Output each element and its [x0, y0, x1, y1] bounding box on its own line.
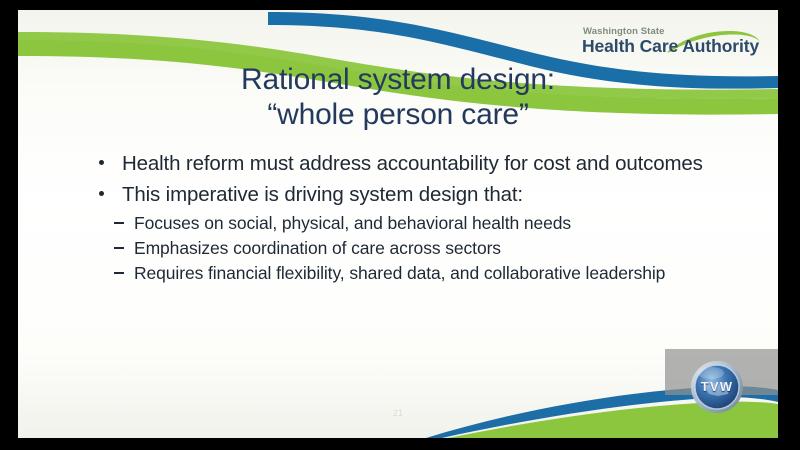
- bullet-dot-icon: [99, 191, 104, 196]
- video-frame: Washington State Health Care Authority R…: [0, 0, 800, 450]
- bullet-item: This imperative is driving system design…: [92, 181, 722, 208]
- bullet-item: Health reform must address accountabilit…: [92, 150, 722, 177]
- bullet-text: Health reform must address accountabilit…: [122, 152, 703, 175]
- bullet-dash-icon: [114, 222, 124, 224]
- slide-title-line1: Rational system design:: [18, 62, 778, 97]
- bullet-dash-icon: [114, 247, 124, 249]
- bullet-dot-icon: [99, 160, 104, 165]
- page-number: 21: [18, 408, 778, 418]
- logo-line-health-care-authority: Health Care Authority: [582, 36, 759, 56]
- sub-bullet-list: Focuses on social, physical, and behavio…: [92, 212, 722, 285]
- bullet-dash-icon: [114, 272, 124, 274]
- sub-bullet-text: Focuses on social, physical, and behavio…: [134, 213, 571, 233]
- tvw-watermark-logo: TVW: [685, 357, 749, 417]
- presentation-slide: Washington State Health Care Authority R…: [18, 10, 778, 438]
- slide-title: Rational system design: “whole person ca…: [18, 62, 778, 132]
- sub-bullet-text: Requires financial flexibility, shared d…: [134, 263, 665, 283]
- sub-bullet-item: Focuses on social, physical, and behavio…: [92, 212, 722, 235]
- hca-logo: Washington State Health Care Authority: [577, 27, 762, 63]
- tvw-label: TVW: [685, 379, 749, 394]
- sub-bullet-text: Emphasizes coordination of care across s…: [134, 238, 501, 258]
- slide-title-line2: “whole person care”: [18, 97, 778, 132]
- sub-bullet-item: Emphasizes coordination of care across s…: [92, 237, 722, 260]
- sub-bullet-item: Requires financial flexibility, shared d…: [92, 262, 722, 285]
- slide-body: Health reform must address accountabilit…: [92, 150, 722, 287]
- bullet-text: This imperative is driving system design…: [122, 183, 523, 206]
